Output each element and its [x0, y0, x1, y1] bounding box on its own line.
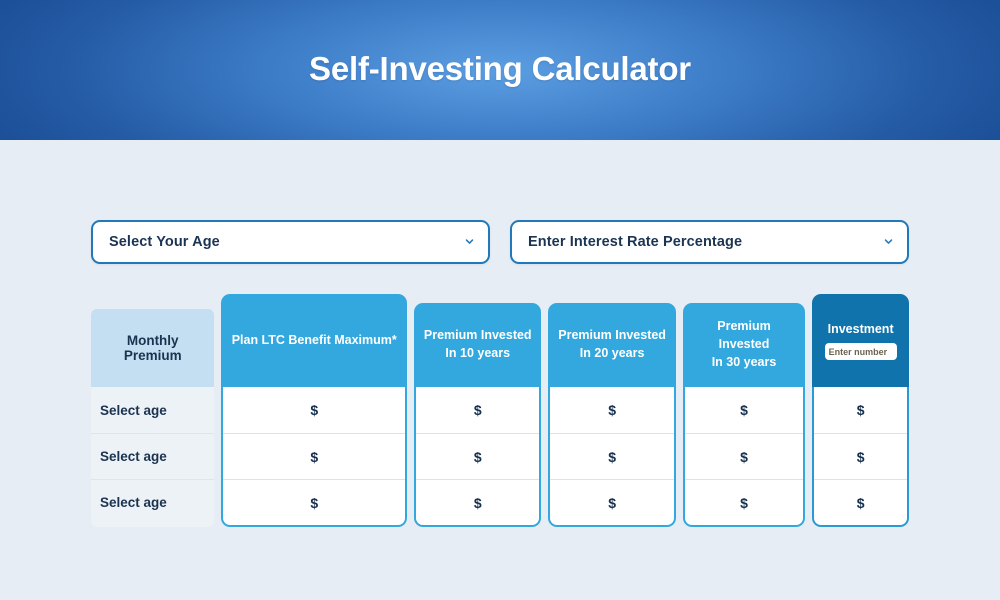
column-premium-invested-30-years: Premium Invested In 30 years $ $ $ [683, 303, 805, 527]
interest-rate-select-label: Enter Interest Rate Percentage [528, 234, 742, 250]
table-cell: $ [550, 479, 673, 525]
chevron-down-icon [465, 237, 474, 246]
monthly-premium-cells: Select age Select age Select age [91, 387, 214, 527]
results-table: Monthly Premium Select age Select age Se… [91, 294, 909, 527]
table-cell: $ [685, 479, 803, 525]
column-premium-invested-10-years: Premium Invested In 10 years $ $ $ [414, 303, 541, 527]
investment-cells: $ $ $ [812, 387, 909, 527]
column-header-line1: Plan LTC Benefit Maximum* [232, 332, 397, 350]
column-header-line2: In 30 years [712, 355, 777, 369]
column-header-line1: Premium Invested [558, 328, 666, 342]
column-header-investment: Investment [812, 294, 909, 387]
investment-amount-input[interactable] [825, 343, 897, 360]
column-header-line1: Investment [828, 321, 894, 339]
column-header-monthly-premium: Monthly Premium [91, 309, 214, 387]
column-header-text: Premium Invested In 20 years [558, 327, 666, 363]
table-row-label[interactable]: Select age [91, 387, 214, 433]
page-title: Self-Investing Calculator [0, 50, 1000, 88]
plan-ltc-cells: $ $ $ [221, 387, 407, 527]
table-cell: $ [685, 387, 803, 433]
column-header-text: Premium Invested In 30 years [691, 318, 797, 371]
column-header-line2: In 10 years [445, 346, 510, 360]
age-select[interactable]: Select Your Age [91, 220, 490, 264]
column-header-premium-invested-20-years: Premium Invested In 20 years [548, 303, 675, 387]
table-cell: $ [223, 479, 405, 525]
premium-20-cells: $ $ $ [548, 387, 675, 527]
table-cell: $ [223, 387, 405, 433]
page-header-banner: Self-Investing Calculator [0, 0, 1000, 140]
column-header-line2: In 20 years [580, 346, 645, 360]
table-cell: $ [814, 387, 907, 433]
table-cell: $ [416, 479, 539, 525]
column-header-premium-invested-10-years: Premium Invested In 10 years [414, 303, 541, 387]
selector-row: Select Your Age Enter Interest Rate Perc… [91, 220, 909, 264]
column-monthly-premium: Monthly Premium Select age Select age Se… [91, 309, 214, 527]
table-row-label[interactable]: Select age [91, 433, 214, 479]
table-cell: $ [223, 433, 405, 479]
column-plan-ltc-benefit-maximum: Plan LTC Benefit Maximum* $ $ $ [221, 294, 407, 527]
column-header-premium-invested-30-years: Premium Invested In 30 years [683, 303, 805, 387]
column-investment: Investment $ $ $ [812, 294, 909, 527]
table-cell: $ [550, 433, 673, 479]
interest-rate-select[interactable]: Enter Interest Rate Percentage [510, 220, 909, 264]
chevron-down-icon [884, 237, 893, 246]
column-header-line1: Premium Invested [424, 328, 532, 342]
table-cell: $ [550, 387, 673, 433]
premium-30-cells: $ $ $ [683, 387, 805, 527]
column-header-line1: Premium Invested [717, 319, 771, 351]
column-header-plan-ltc-benefit-maximum: Plan LTC Benefit Maximum* [221, 294, 407, 387]
premium-10-cells: $ $ $ [414, 387, 541, 527]
table-cell: $ [685, 433, 803, 479]
age-select-label: Select Your Age [109, 234, 220, 250]
table-cell: $ [814, 479, 907, 525]
column-premium-invested-20-years: Premium Invested In 20 years $ $ $ [548, 303, 675, 527]
table-row-label[interactable]: Select age [91, 479, 214, 525]
table-cell: $ [416, 433, 539, 479]
page-body: Select Your Age Enter Interest Rate Perc… [0, 140, 1000, 600]
table-cell: $ [416, 387, 539, 433]
table-cell: $ [814, 433, 907, 479]
column-header-text: Premium Invested In 10 years [424, 327, 532, 363]
